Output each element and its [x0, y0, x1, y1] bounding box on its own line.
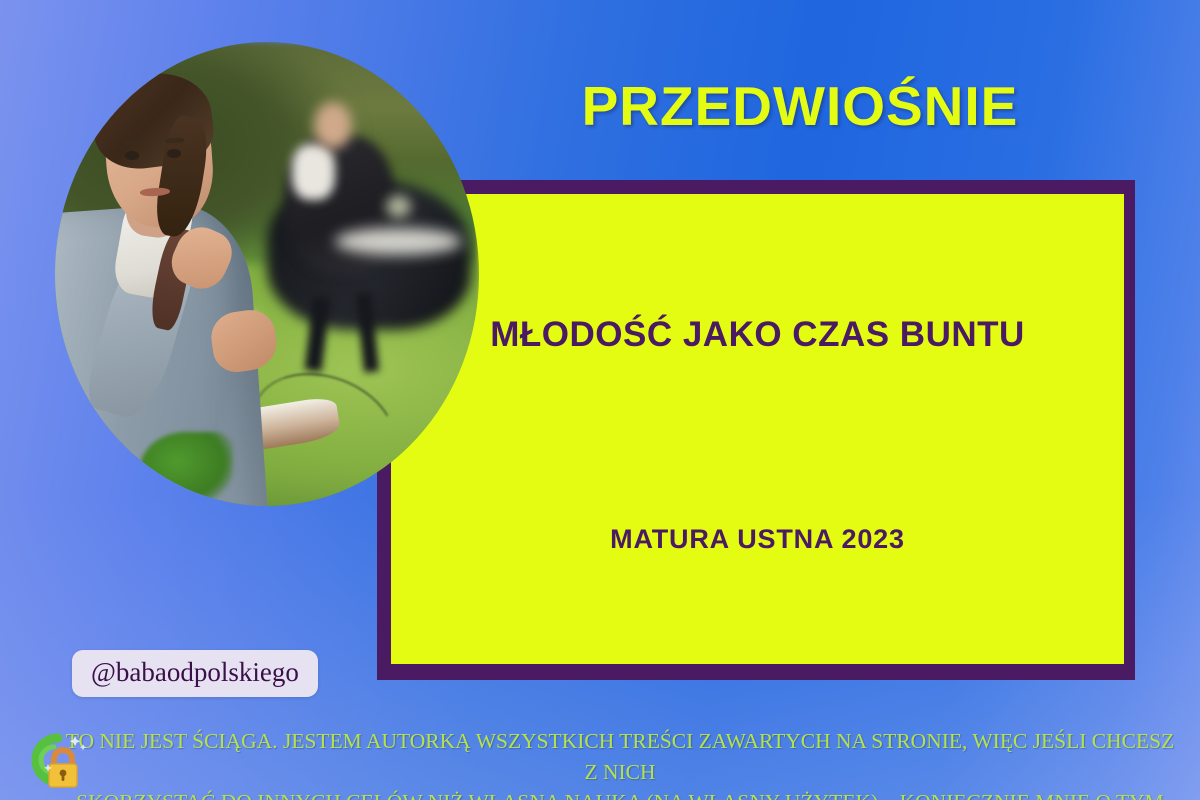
- photo-man-eye-right: [167, 149, 181, 158]
- copyright-lock-logo-icon: [18, 726, 94, 796]
- logo-sparkle-top-icon: [70, 736, 80, 746]
- photo-foreground-leaf: [140, 432, 233, 506]
- panel-heading: MŁODOŚĆ JAKO CZAS BUNTU: [391, 312, 1124, 358]
- photo-light-streak: [335, 228, 462, 256]
- logo-lock-keyslot-icon: [62, 774, 65, 781]
- footer-line-2: SKORZYSTAĆ DO INNYCH CELÓW NIŻ WŁASNA NA…: [60, 787, 1180, 800]
- page-title: PRZEDWIOŚNIE: [500, 74, 1100, 138]
- content-panel-fill: MŁODOŚĆ JAKO CZAS BUNTU MATURA USTNA 202…: [391, 194, 1124, 664]
- photo-blurred-rider-head: [314, 102, 352, 148]
- portrait-photo-circle: [55, 42, 479, 506]
- panel-subheading: MATURA USTNA 2023: [391, 524, 1124, 555]
- slide-canvas: PRZEDWIOŚNIE MŁODOŚĆ JAKO CZAS BUNTU MAT…: [0, 0, 1200, 800]
- content-panel-frame: MŁODOŚĆ JAKO CZAS BUNTU MATURA USTNA 202…: [377, 180, 1135, 680]
- footer-line-1: TO NIE JEST ŚCIĄGA. JESTEM AUTORKĄ WSZYS…: [60, 726, 1180, 787]
- footer-disclaimer: TO NIE JEST ŚCIĄGA. JESTEM AUTORKĄ WSZYS…: [60, 726, 1180, 800]
- photo-man-eye-left: [125, 151, 139, 160]
- photo-blurred-rider-shirt: [292, 144, 334, 200]
- photo-canvas: [55, 42, 479, 506]
- author-handle-badge: @babaodpolskiego: [72, 650, 318, 697]
- logo-sparkle-right-icon: [80, 744, 86, 750]
